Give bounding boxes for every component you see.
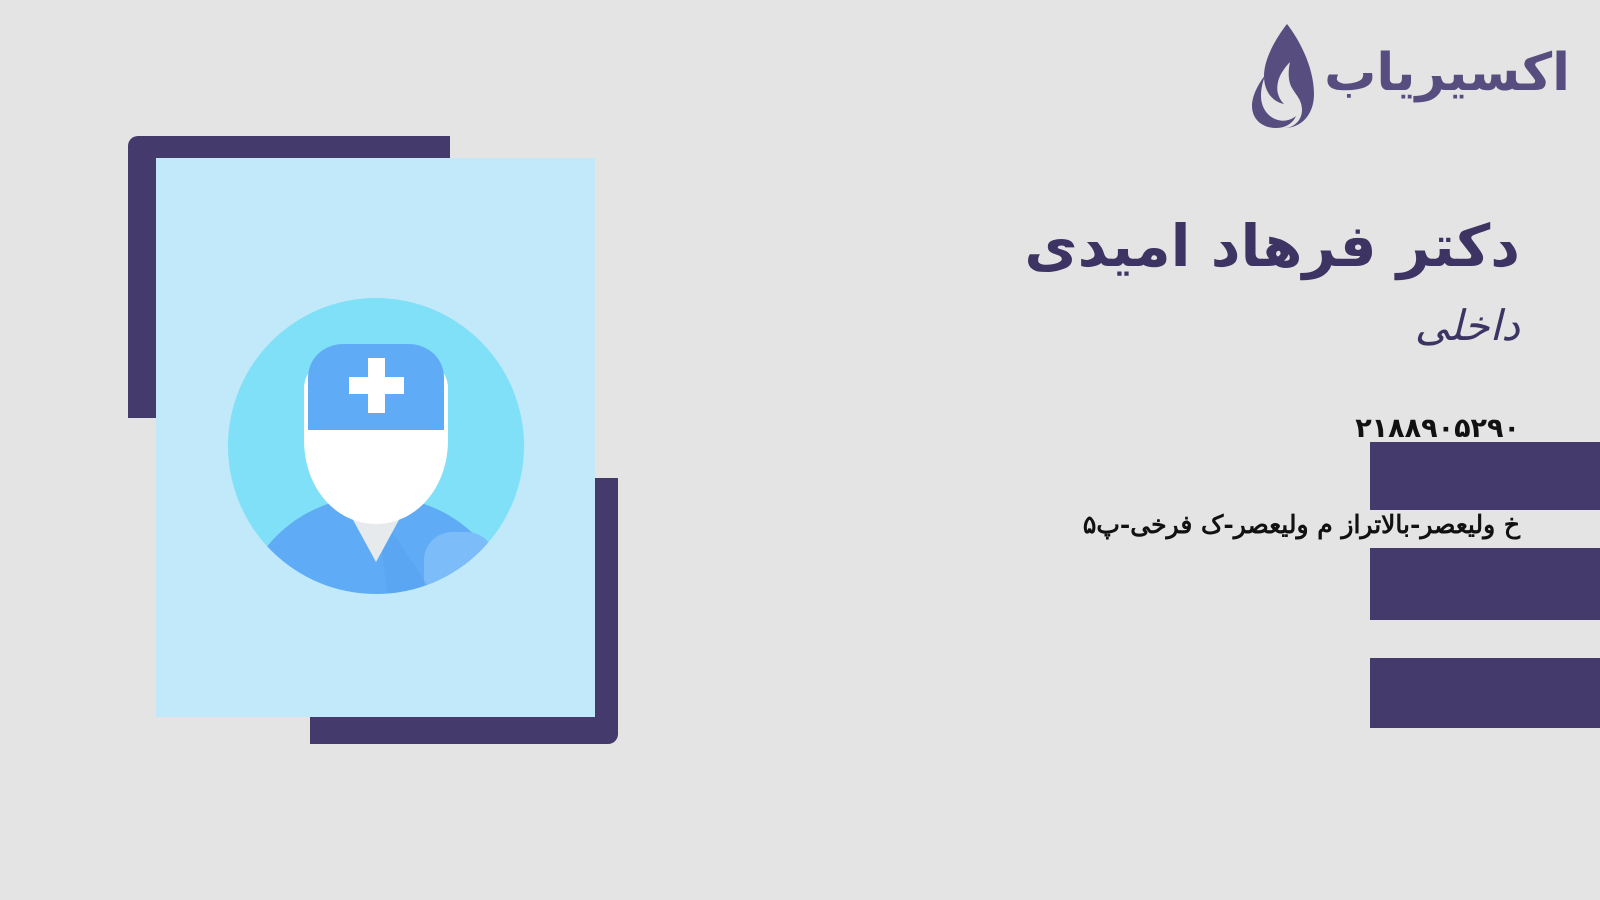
decor-bar-1 bbox=[1370, 442, 1600, 510]
illustration-block bbox=[128, 136, 618, 744]
doctor-phone[interactable]: ۲۱۸۸۹۰۵۲۹۰ bbox=[760, 413, 1520, 444]
decor-bar-3 bbox=[1370, 658, 1600, 728]
doctor-specialty: داخلی bbox=[760, 301, 1520, 351]
doctor-profile-card: اکسیریاب bbox=[0, 0, 1600, 900]
doctor-avatar-illustration bbox=[156, 158, 595, 717]
doctor-address: خ ولیعصر-بالاتراز م ولیعصر-ک فرخی-پ۵ bbox=[760, 510, 1520, 539]
brand-wordmark: اکسیریاب bbox=[1324, 47, 1570, 99]
decor-bar-2 bbox=[1370, 548, 1600, 620]
flame-drop-icon bbox=[1240, 22, 1316, 130]
brand-logo[interactable]: اکسیریاب bbox=[1240, 22, 1570, 130]
doctor-name: دکتر فرهاد امیدی bbox=[760, 210, 1520, 283]
